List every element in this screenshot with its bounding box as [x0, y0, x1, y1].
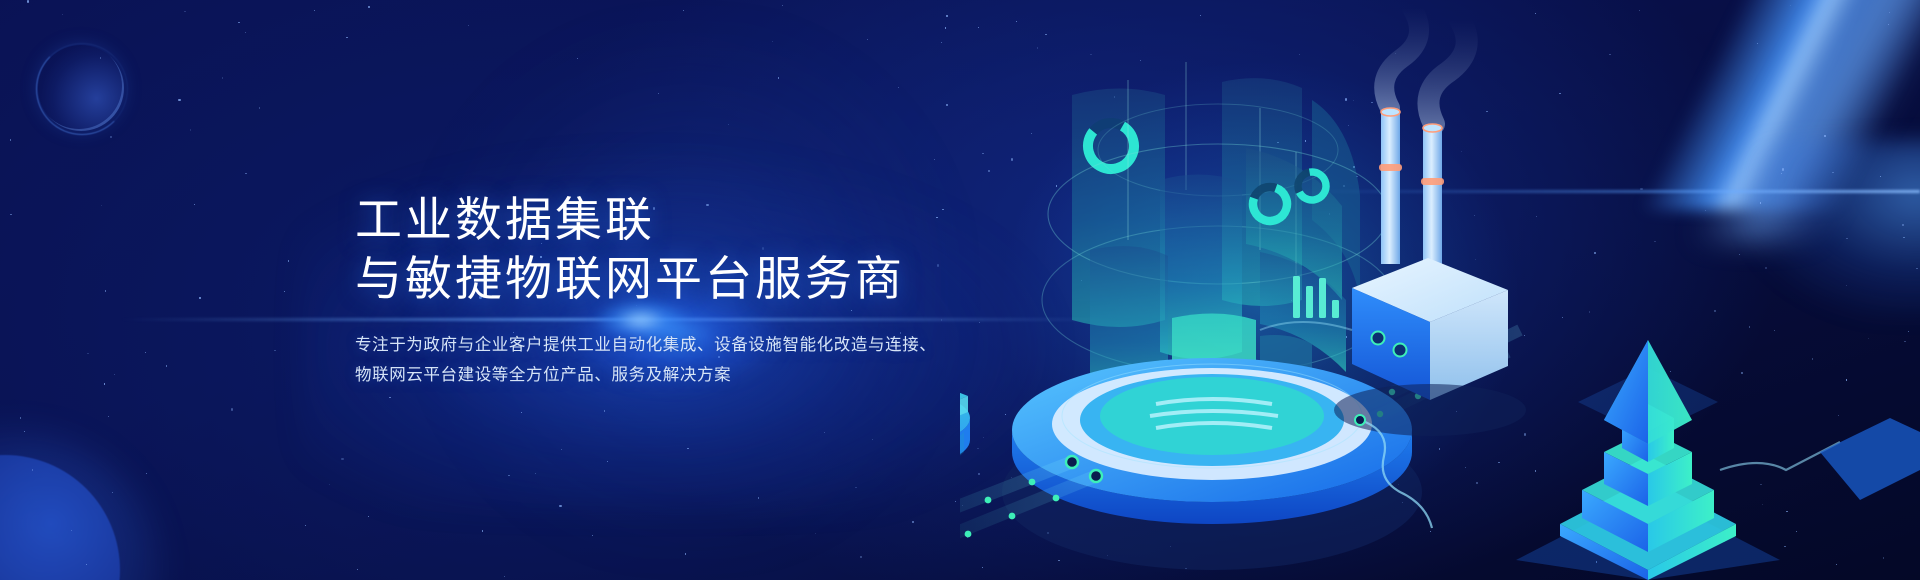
- factory-port-a: [1372, 332, 1385, 345]
- star: [146, 473, 147, 474]
- chimney-left: [1381, 112, 1400, 264]
- beam-node-a: [1066, 456, 1078, 468]
- crescent-moon-rim: [36, 43, 128, 135]
- star: [20, 417, 21, 418]
- smoke-left: [1384, 8, 1419, 108]
- star: [872, 439, 873, 440]
- star: [178, 99, 180, 101]
- star: [855, 487, 856, 488]
- star: [199, 297, 200, 298]
- star: [222, 77, 223, 78]
- star: [592, 535, 593, 536]
- star: [114, 374, 115, 375]
- hero-illustration: [960, 0, 1920, 580]
- chimney-right-band: [1421, 178, 1444, 185]
- star: [867, 39, 868, 40]
- star: [10, 139, 11, 140]
- star: [577, 58, 578, 59]
- star: [504, 576, 505, 577]
- star: [946, 104, 947, 105]
- star: [898, 87, 899, 88]
- star: [687, 448, 688, 449]
- pie-cyl-glow: [960, 432, 964, 479]
- star: [245, 32, 246, 33]
- star: [535, 473, 536, 474]
- star: [329, 484, 330, 485]
- planet-bottom-left: [0, 455, 120, 580]
- chimney-left-rim: [1381, 108, 1400, 116]
- star: [389, 397, 390, 398]
- star: [860, 556, 862, 558]
- star: [105, 290, 106, 291]
- star: [685, 553, 686, 554]
- star: [62, 14, 63, 15]
- star: [658, 93, 659, 94]
- crescent-moon: [38, 45, 124, 131]
- star: [71, 530, 72, 531]
- star: [86, 564, 87, 565]
- star: [368, 516, 369, 517]
- star: [607, 461, 608, 462]
- star: [184, 11, 185, 12]
- cable-node-disc: [1355, 415, 1365, 425]
- star: [27, 0, 29, 2]
- star: [357, 569, 358, 570]
- star: [166, 365, 167, 366]
- star: [955, 501, 956, 502]
- star: [110, 136, 112, 138]
- factory-port-b: [1394, 344, 1407, 357]
- star: [758, 497, 759, 498]
- star: [259, 107, 260, 108]
- star: [245, 173, 246, 174]
- star: [824, 432, 825, 433]
- star: [194, 204, 195, 205]
- star: [912, 521, 913, 522]
- star: [104, 383, 105, 384]
- star: [346, 37, 347, 38]
- star: [945, 27, 946, 28]
- disc-core: [1100, 377, 1324, 455]
- hero-subtitle: 专注于为政府与企业客户提供工业自动化集成、设备设施智能化改造与连接、 物联网云平…: [355, 330, 995, 390]
- star: [305, 525, 306, 526]
- star: [559, 505, 561, 507]
- star: [468, 25, 469, 26]
- star: [238, 22, 239, 23]
- star: [10, 214, 11, 215]
- star: [32, 469, 33, 470]
- star: [946, 15, 947, 16]
- step-pyramid: [1516, 340, 1780, 580]
- star: [314, 10, 315, 11]
- star: [772, 41, 773, 42]
- star: [683, 10, 684, 11]
- data-cable-right: [1720, 442, 1840, 470]
- star: [101, 205, 102, 206]
- star: [87, 353, 88, 354]
- star: [24, 431, 25, 432]
- star: [274, 350, 275, 351]
- star: [231, 408, 233, 410]
- star: [145, 352, 146, 353]
- beam-node-b: [1090, 470, 1102, 482]
- star: [341, 458, 343, 460]
- platform-far-right: [1820, 418, 1920, 500]
- star: [288, 260, 289, 261]
- star: [108, 416, 109, 417]
- planet-glow: [0, 430, 160, 580]
- star: [112, 492, 113, 493]
- hero-copy: 工业数据集联 与敏捷物联网平台服务商 专注于为政府与企业客户提供工业自动化集成、…: [355, 190, 995, 390]
- star: [368, 6, 369, 7]
- star: [604, 410, 605, 411]
- star: [782, 5, 783, 6]
- chimney-right-rim: [1423, 124, 1442, 132]
- star: [728, 124, 729, 125]
- star: [284, 291, 285, 292]
- star: [482, 530, 483, 531]
- chimney-right: [1423, 128, 1442, 268]
- star: [815, 533, 816, 534]
- star: [941, 42, 942, 43]
- star: [521, 412, 522, 413]
- factory-shadow: [1334, 384, 1526, 436]
- star: [508, 475, 509, 476]
- star: [934, 159, 935, 160]
- star: [100, 57, 101, 58]
- pie-cylinder: [960, 378, 970, 479]
- star: [778, 77, 779, 78]
- page-title: 工业数据集联 与敏捷物联网平台服务商: [355, 190, 995, 308]
- hero-banner: 工业数据集联 与敏捷物联网平台服务商 专注于为政府与企业客户提供工业自动化集成、…: [0, 0, 1920, 580]
- star: [190, 129, 191, 130]
- smoke-right: [1428, 20, 1466, 124]
- chimney-left-band: [1379, 164, 1402, 171]
- star: [561, 449, 562, 450]
